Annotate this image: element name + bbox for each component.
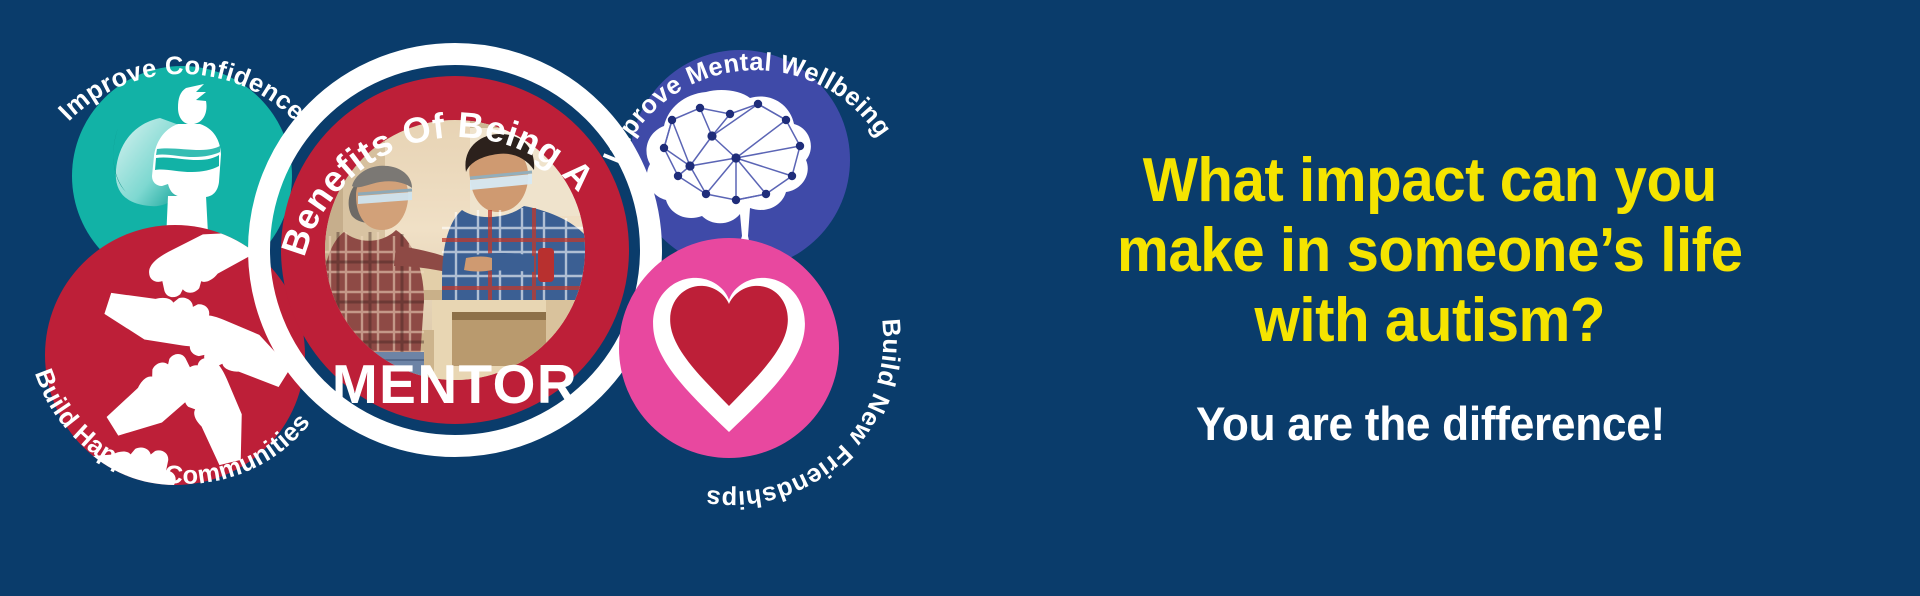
node-build-happier-communities: Build Happier Communities [29, 221, 316, 503]
headline: What impact can you make in someone’s li… [1117, 146, 1743, 356]
campaign-banner: Improve Confidence [0, 0, 1920, 596]
headline-line-3: with autism? [1117, 286, 1743, 356]
center-mentor-ring: Benefits Of Being A MENTOR [259, 54, 651, 446]
headline-line-1: What impact can you [1117, 146, 1743, 216]
headline-line-2: make in someone’s life [1117, 216, 1743, 286]
node-build-new-friendships: Build New Friendships [619, 238, 906, 514]
mentor-word: MENTOR [332, 353, 578, 415]
tagline: You are the difference! [1196, 398, 1665, 450]
benefits-diagram: Improve Confidence [0, 0, 940, 596]
banner-copy: What impact can you make in someone’s li… [940, 0, 1920, 596]
